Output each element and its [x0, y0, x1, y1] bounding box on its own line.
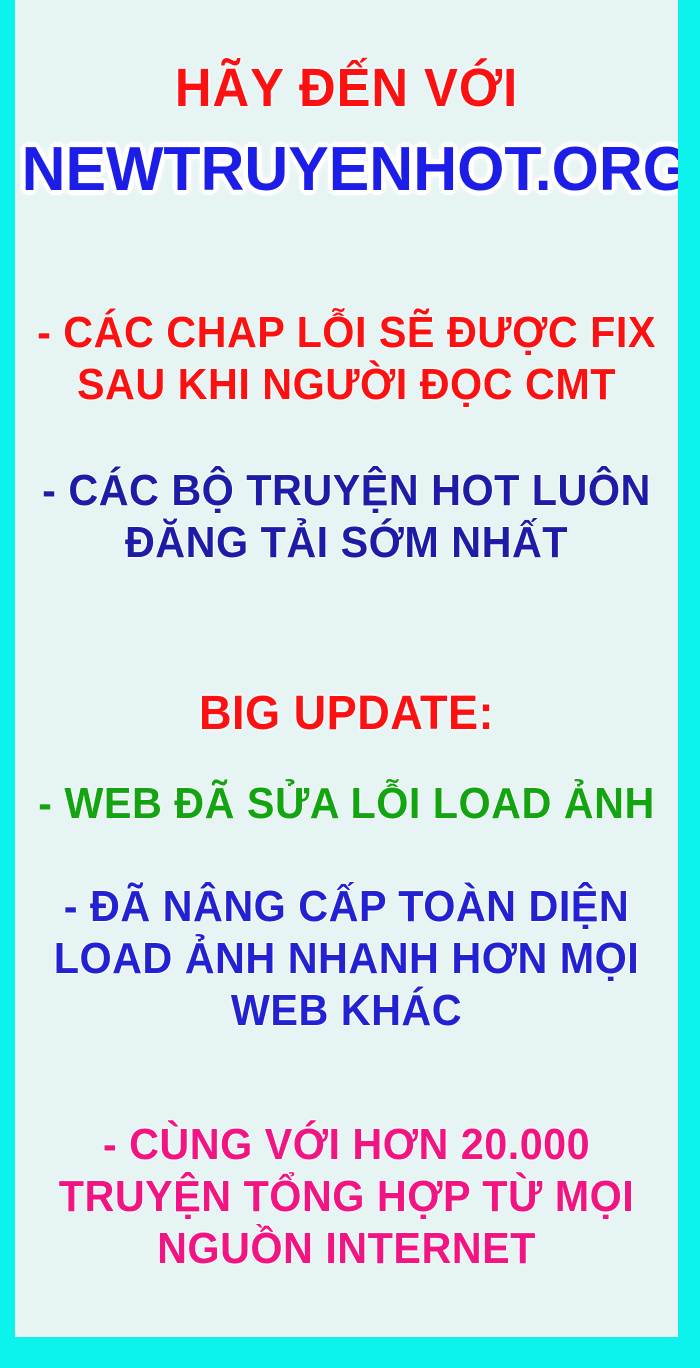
- note-catalog-notice: - CÙNG VỚI HƠN 20.000 TRUYỆN TỔNG HỢP TỪ…: [15, 1122, 678, 1277]
- note-upgrade-notice-line-1: - ĐÃ NÂNG CẤP TOÀN DIỆN: [35, 884, 658, 930]
- note-upgrade-notice-line-2: LOAD ẢNH NHANH HƠN MỌI: [35, 936, 658, 982]
- note-catalog-notice-line-2: TRUYỆN TỔNG HỢP TỪ MỌI: [35, 1174, 658, 1220]
- note-hot-series-notice: - CÁC BỘ TRUYỆN HOT LUÔN ĐĂNG TẢI SỚM NH…: [15, 468, 678, 572]
- poster-frame: HÃY ĐẾN VỚI NEWTRUYENHOT.ORG - CÁC CHAP …: [0, 0, 700, 1368]
- note-catalog-notice-line-1: - CÙNG VỚI HƠN 20.000: [35, 1122, 658, 1168]
- note-upgrade-notice-line-3: WEB KHÁC: [35, 988, 658, 1034]
- site-domain-block[interactable]: NEWTRUYENHOT.ORG: [15, 138, 678, 202]
- note-upgrade-notice: - ĐÃ NÂNG CẤP TOÀN DIỆN LOAD ẢNH NHANH H…: [15, 884, 678, 1039]
- note-image-load-fix: - WEB ĐÃ SỬA LỖI LOAD ẢNH: [15, 781, 678, 827]
- note-image-load-fix-line-1: - WEB ĐÃ SỬA LỖI LOAD ẢNH: [35, 781, 658, 827]
- note-hot-series-line-2: ĐĂNG TẢI SỚM NHẤT: [35, 520, 658, 566]
- note-catalog-notice-line-3: NGUỒN INTERNET: [35, 1226, 658, 1272]
- headline-greeting-block: HÃY ĐẾN VỚI: [15, 60, 678, 116]
- big-update-heading-block: BIG UPDATE:: [15, 689, 678, 739]
- poster-canvas: HÃY ĐẾN VỚI NEWTRUYENHOT.ORG - CÁC CHAP …: [15, 0, 678, 1337]
- note-hot-series-line-1: - CÁC BỘ TRUYỆN HOT LUÔN: [35, 468, 658, 514]
- note-fix-notice-line-1: - CÁC CHAP LỖI SẼ ĐƯỢC FIX: [35, 310, 658, 356]
- note-fix-notice: - CÁC CHAP LỖI SẼ ĐƯỢC FIX SAU KHI NGƯỜI…: [15, 310, 678, 414]
- site-domain-text[interactable]: NEWTRUYENHOT.ORG: [22, 138, 672, 202]
- big-update-heading-text: BIG UPDATE:: [35, 689, 658, 739]
- headline-greeting-text: HÃY ĐẾN VỚI: [35, 60, 658, 116]
- note-fix-notice-line-2: SAU KHI NGƯỜI ĐỌC CMT: [35, 362, 658, 408]
